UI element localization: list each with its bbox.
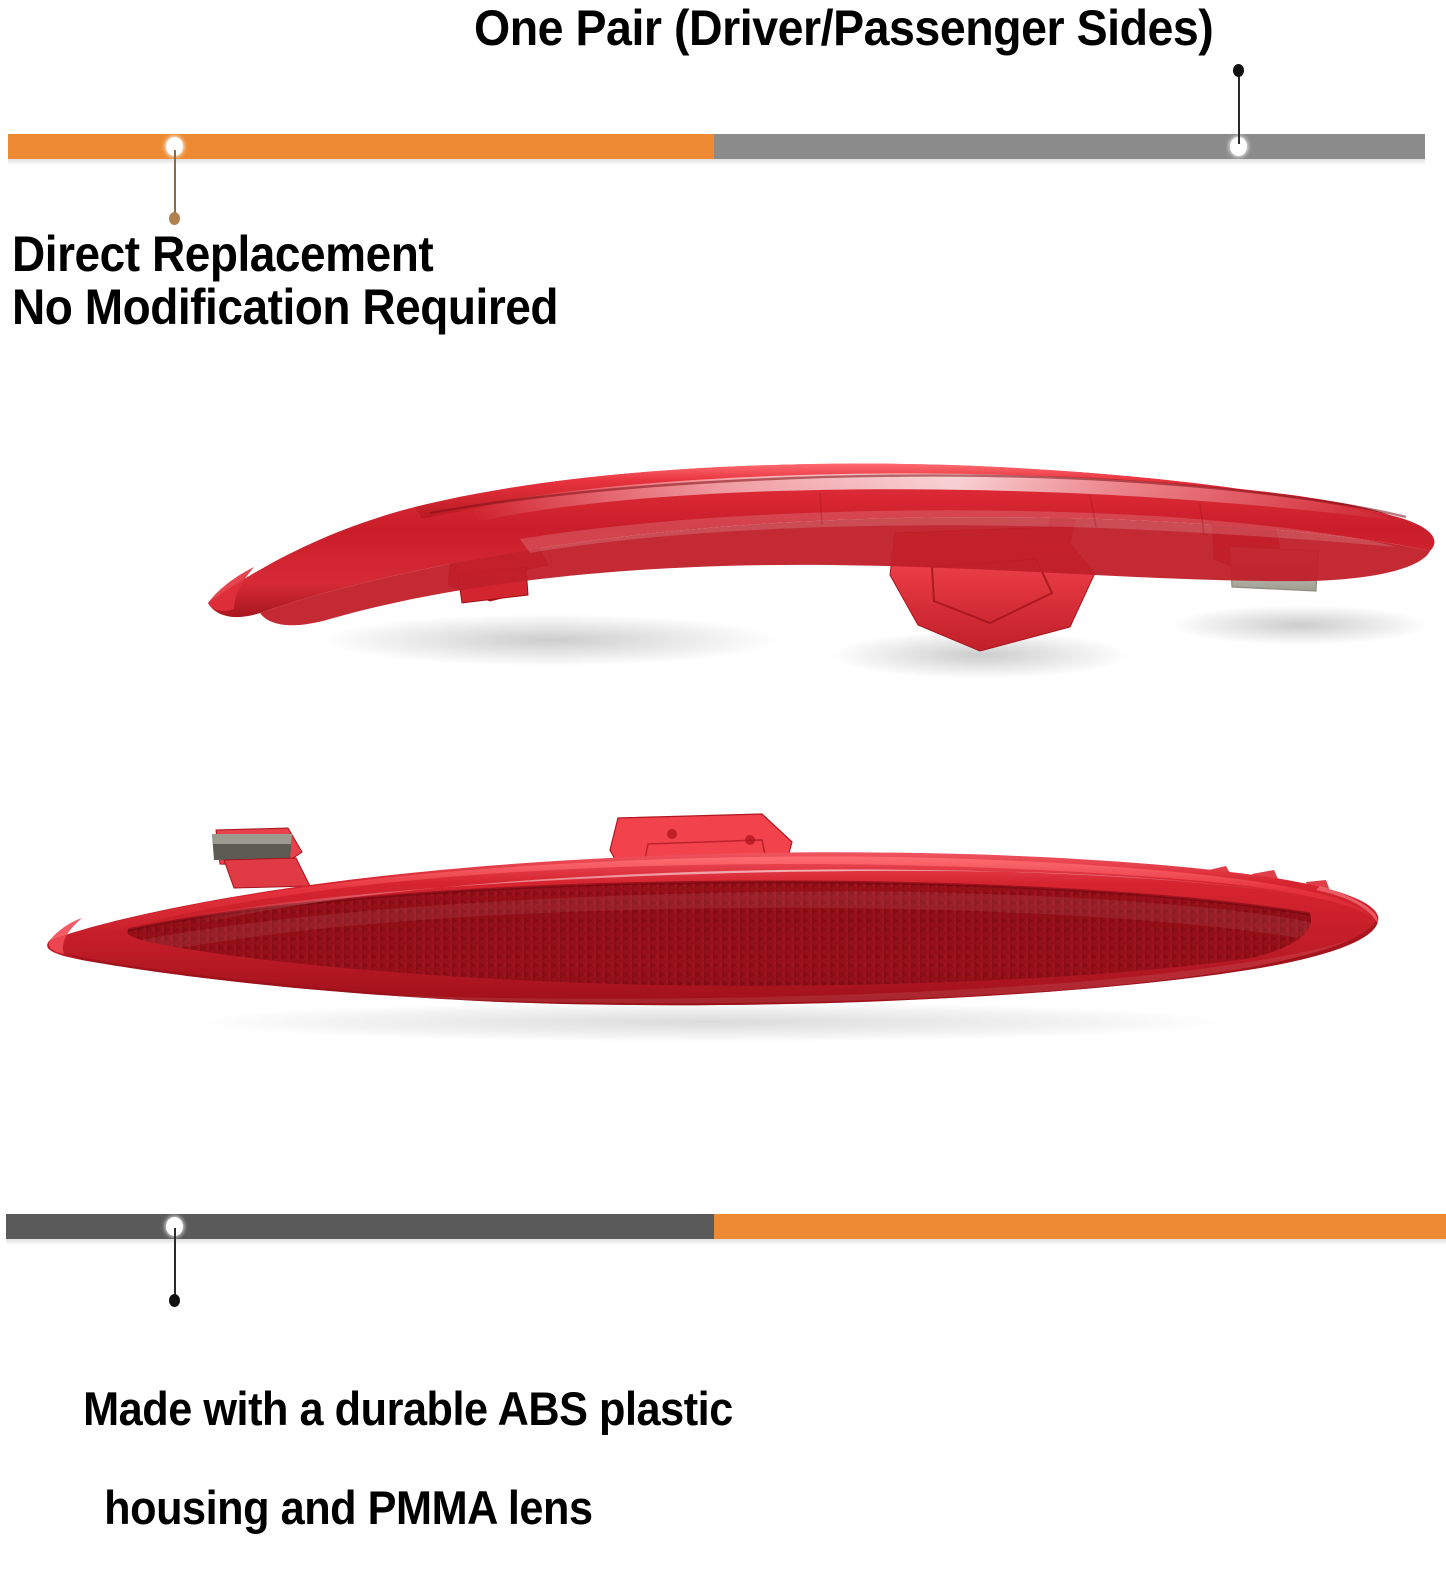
top-divider-bar [8,134,1425,159]
bottom-left-leader-line [174,1228,176,1302]
top-bar-orange-segment [8,134,714,159]
bottom-bar-shadow [6,1239,1446,1245]
bottom-bar-orange-segment [714,1214,1446,1239]
bottom-bar-dark-grey-segment [6,1214,714,1239]
feature-direct-replacement-label: Direct Replacement No Modification Requi… [12,228,558,334]
feature-abs-pmma-line2: housing and PMMA lens [60,1483,733,1533]
bottom-divider-bar [6,1214,1446,1239]
feature-abs-pmma-line1: Made with a durable ABS plastic [83,1382,733,1435]
bottom-left-leader-end-dot [169,1294,180,1307]
page-title: One Pair (Driver/Passenger Sides) [474,2,1213,55]
feature-abs-pmma-label: Made with a durable ABS plastic housing … [60,1334,733,1583]
product-image-reflector-lower [20,790,1400,1050]
product-image-reflector-upper [190,455,1440,715]
top-right-leader-end-dot [1233,64,1244,77]
top-right-leader-line [1238,72,1240,144]
top-bar-shadow [8,159,1425,165]
top-left-leader-line [174,150,176,218]
top-bar-grey-segment [714,134,1425,159]
top-left-leader-end-dot [169,212,180,225]
